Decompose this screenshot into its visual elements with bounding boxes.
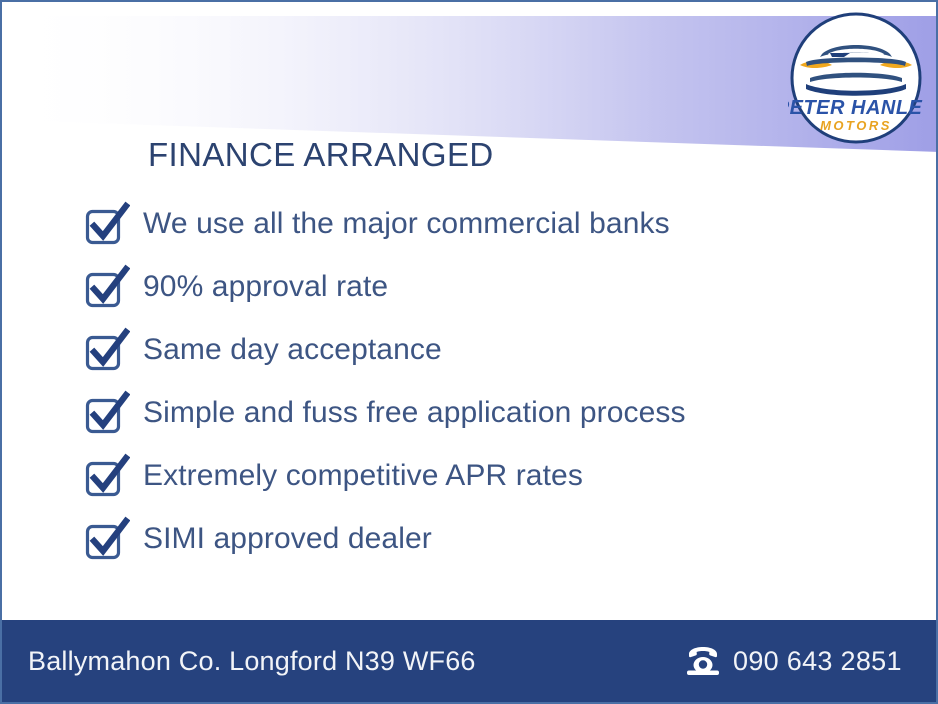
checkbox-checked-icon [84,201,130,247]
list-item: We use all the major commercial banks [84,192,884,255]
page-title: FINANCE ARRANGED [148,136,494,174]
telephone-icon [686,646,720,676]
logo-brand-sub: MOTORS [820,118,892,133]
footer-bar: Ballymahon Co. Longford N39 WF66 090 643… [2,620,936,702]
list-item-label: Same day acceptance [143,335,442,365]
list-item-label: We use all the major commercial banks [143,209,670,239]
checkbox-checked-icon [84,327,130,373]
list-item: Simple and fuss free application process [84,381,884,444]
peter-hanley-motors-logo: PETER HANLEY MOTORS [788,10,924,146]
finance-arranged-poster: PETER HANLEY MOTORS FINANCE ARRANGED We … [0,0,938,704]
footer-phone-group[interactable]: 090 643 2851 [686,646,902,677]
list-item: Extremely competitive APR rates [84,444,884,507]
footer-phone-number: 090 643 2851 [733,646,902,677]
list-item-label: 90% approval rate [143,272,388,302]
checkbox-checked-icon [84,390,130,436]
list-item: Same day acceptance [84,318,884,381]
footer-address: Ballymahon Co. Longford N39 WF66 [28,646,476,677]
checkbox-checked-icon [84,264,130,310]
list-item-label: SIMI approved dealer [143,524,432,554]
list-item-label: Simple and fuss free application process [143,398,686,428]
list-item-label: Extremely competitive APR rates [143,461,583,491]
feature-list: We use all the major commercial banks 90… [84,192,884,570]
list-item: 90% approval rate [84,255,884,318]
checkbox-checked-icon [84,516,130,562]
list-item: SIMI approved dealer [84,507,884,570]
checkbox-checked-icon [84,453,130,499]
logo-brand-name: PETER HANLEY [788,97,924,119]
